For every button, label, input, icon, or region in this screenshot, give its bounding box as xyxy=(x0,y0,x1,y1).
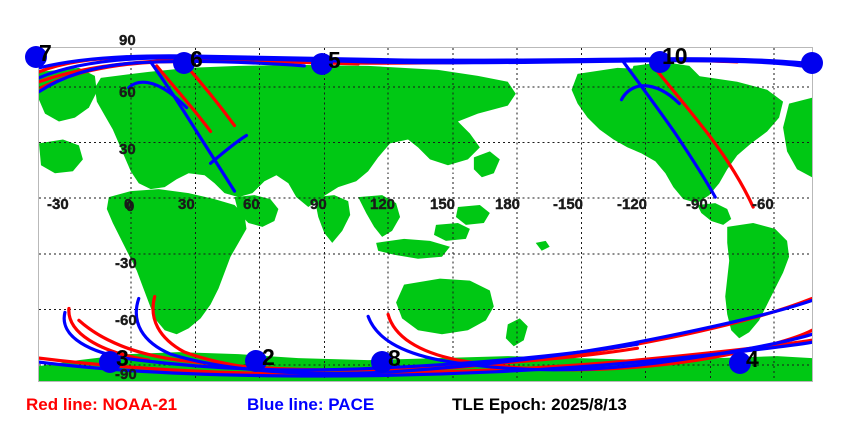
satellite-label-5: 5 xyxy=(328,49,341,72)
satellite-label-10: 10 xyxy=(662,45,688,68)
lon-label--60: -60 xyxy=(752,196,774,213)
lat-label-60: 60 xyxy=(119,84,136,101)
satellite-label-4: 4 xyxy=(746,348,759,371)
lon-label-120: 120 xyxy=(370,196,395,213)
lon-label-180: 180 xyxy=(495,196,520,213)
satellite-label-8: 8 xyxy=(388,347,401,370)
satellite-label-3: 3 xyxy=(116,347,129,370)
noaa21-track-descending-1 xyxy=(185,64,235,126)
pace-track-descending-2 xyxy=(623,62,715,197)
lat-label--30: -30 xyxy=(115,255,137,272)
legend: Red line: NOAA-21 Blue line: PACE TLE Ep… xyxy=(0,392,850,425)
satellite-marker-9[interactable] xyxy=(801,52,823,74)
lon-label-150: 150 xyxy=(430,196,455,213)
legend-tle-epoch: TLE Epoch: 2025/8/13 xyxy=(452,395,627,415)
ground-track-map xyxy=(38,47,813,382)
satellite-label-2: 2 xyxy=(262,346,275,369)
lon-label--150: -150 xyxy=(553,196,583,213)
pace-track-group xyxy=(39,56,812,376)
lon-label-30: 30 xyxy=(178,196,195,213)
lon-label--120: -120 xyxy=(617,196,647,213)
lat-label-90: 90 xyxy=(119,32,136,49)
lat-label-30: 30 xyxy=(119,141,136,158)
legend-red-line: Red line: NOAA-21 xyxy=(26,395,177,415)
lat-label--60: -60 xyxy=(115,312,137,329)
noaa21-track-descending-1b xyxy=(157,66,211,132)
pace-track-descending-1 xyxy=(151,62,235,191)
satellite-label-7: 7 xyxy=(39,42,52,65)
lon-label-60: 60 xyxy=(243,196,260,213)
noaa21-track-descending-2 xyxy=(651,64,753,207)
lon-label--90: -90 xyxy=(686,196,708,213)
lat-label-0: 0 xyxy=(126,198,134,215)
pace-track-minor-1 xyxy=(211,135,247,163)
noaa21-track-group xyxy=(39,57,812,374)
lon-label--30: -30 xyxy=(47,196,69,213)
legend-blue-line: Blue line: PACE xyxy=(247,395,374,415)
satellite-label-6: 6 xyxy=(190,48,203,71)
lon-label-90: 90 xyxy=(310,196,327,213)
satellite-track-layer xyxy=(39,48,812,381)
